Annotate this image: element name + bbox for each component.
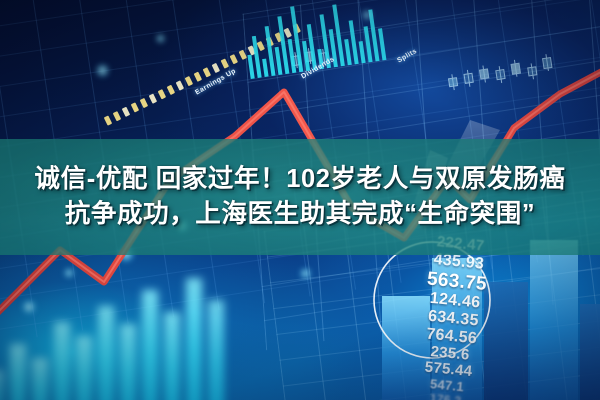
headline-line-1: 诚信-优配 回家过年！102岁老人与双原发肠癌 — [35, 164, 566, 195]
headline-line-2: 抗争成功，上海医生助其完成“生命突围” — [65, 199, 535, 230]
headline: 诚信-优配 回家过年！102岁老人与双原发肠癌 抗争成功，上海医生助其完成“生命… — [0, 139, 600, 255]
banner-image: Earnings Up Dividends Splits 222.47 435.… — [0, 0, 600, 400]
